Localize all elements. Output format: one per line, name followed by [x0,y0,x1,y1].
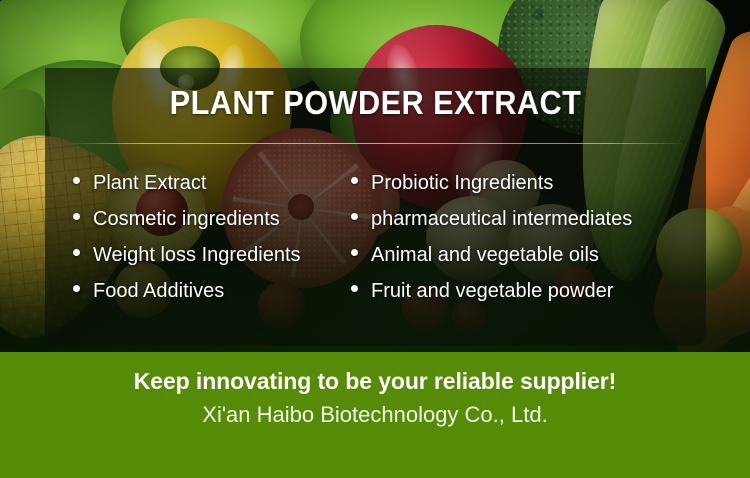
list-item[interactable]: Plant Extract [73,172,351,195]
list-item-label: Animal and vegetable oils [371,244,599,267]
footer-bar: Keep innovating to be your reliable supp… [0,352,750,478]
list-item[interactable]: Food Additives [73,280,351,303]
bullet-icon [351,177,358,184]
list-item-label: Plant Extract [93,172,206,195]
list-item-label: Cosmetic ingredients [93,208,280,231]
footer-company-name: Xi'an Haibo Biotechnology Co., Ltd. [0,402,750,428]
bullet-icon [73,285,80,292]
bullet-icon [351,213,358,220]
title-divider [70,143,682,144]
bullet-icon [73,177,80,184]
page-title: PLANT POWDER EXTRACT [68,84,683,122]
footer-tagline: Keep innovating to be your reliable supp… [0,368,750,395]
list-item-label: Weight loss Ingredients [93,244,301,267]
left-category-column: Plant Extract Cosmetic ingredients Weigh… [45,172,351,316]
list-item[interactable]: Animal and vegetable oils [351,244,706,267]
bullet-icon [73,249,80,256]
list-item[interactable]: Fruit and vegetable powder [351,280,706,303]
list-item-label: pharmaceutical intermediates [371,208,632,231]
list-item-label: Fruit and vegetable powder [371,280,613,303]
bullet-icon [73,213,80,220]
list-item[interactable]: Probiotic Ingredients [351,172,706,195]
list-item[interactable]: pharmaceutical intermediates [351,208,706,231]
bullet-icon [351,285,358,292]
list-item[interactable]: Weight loss Ingredients [73,244,351,267]
content-overlay-panel: PLANT POWDER EXTRACT Plant Extract Cosme… [45,68,706,346]
product-category-lists: Plant Extract Cosmetic ingredients Weigh… [45,172,706,316]
list-item-label: Food Additives [93,280,224,303]
product-banner: PLANT POWDER EXTRACT Plant Extract Cosme… [0,0,750,478]
bullet-icon [351,249,358,256]
right-category-column: Probiotic Ingredients pharmaceutical int… [351,172,706,316]
list-item-label: Probiotic Ingredients [371,172,553,195]
list-item[interactable]: Cosmetic ingredients [73,208,351,231]
